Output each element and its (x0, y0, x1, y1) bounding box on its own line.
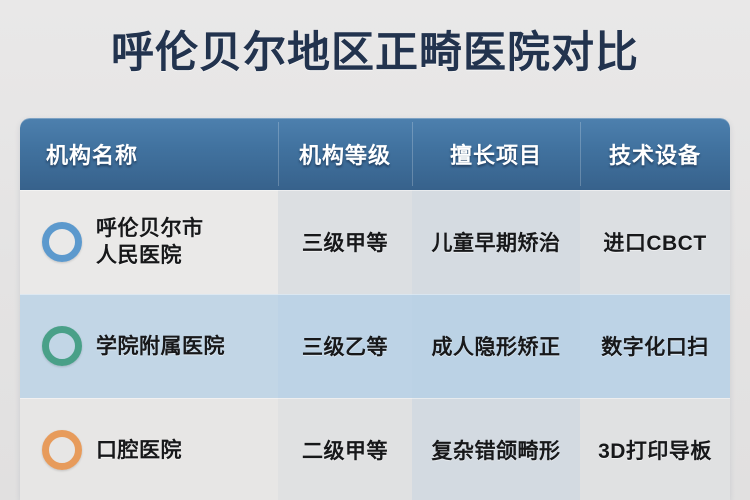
column-header-equipment[interactable]: 技术设备 (580, 118, 730, 190)
cell-specialty: 儿童早期矫治 (412, 190, 580, 294)
cell-organization-name: 口腔医院 (20, 398, 278, 500)
organization-name-line-1: 呼伦贝尔市 (96, 215, 204, 242)
table-row[interactable]: 学院附属医院 三级乙等 成人隐形矫正 数字化口扫 (20, 294, 730, 398)
cell-organization-name: 呼伦贝尔市 人民医院 (20, 190, 278, 294)
table-row[interactable]: 口腔医院 二级甲等 复杂错颌畸形 3D打印导板 (20, 398, 730, 500)
cell-specialty: 复杂错颌畸形 (412, 398, 580, 500)
table-row[interactable]: 呼伦贝尔市 人民医院 三级甲等 儿童早期矫治 进口CBCT (20, 190, 730, 294)
column-header-level[interactable]: 机构等级 (278, 118, 412, 190)
cell-equipment: 数字化口扫 (580, 294, 730, 398)
organization-name-text: 学院附属医院 (96, 333, 225, 360)
cell-equipment: 3D打印导板 (580, 398, 730, 500)
organization-name-line-2: 人民医院 (96, 242, 204, 269)
cell-level: 三级乙等 (278, 294, 412, 398)
ring-icon (42, 222, 82, 262)
column-header-name[interactable]: 机构名称 (20, 118, 278, 190)
organization-name-line-1: 学院附属医院 (96, 333, 225, 360)
organization-name-line-1: 口腔医院 (96, 437, 182, 464)
cell-level: 三级甲等 (278, 190, 412, 294)
cell-specialty: 成人隐形矫正 (412, 294, 580, 398)
table-body: 呼伦贝尔市 人民医院 三级甲等 儿童早期矫治 进口CBCT 学院附属医院 三 (20, 190, 730, 500)
cell-level: 二级甲等 (278, 398, 412, 500)
page-title: 呼伦贝尔地区正畸医院对比 (0, 26, 750, 80)
table-header-row: 机构名称 机构等级 擅长项目 技术设备 (20, 118, 730, 190)
cell-equipment: 进口CBCT (580, 190, 730, 294)
ring-icon (42, 430, 82, 470)
organization-name-text: 呼伦贝尔市 人民医院 (96, 215, 204, 269)
comparison-table: 机构名称 机构等级 擅长项目 技术设备 呼伦贝尔市 人民医院 三级甲等 儿童早期… (20, 118, 730, 500)
organization-name-text: 口腔医院 (96, 437, 182, 464)
cell-organization-name: 学院附属医院 (20, 294, 278, 398)
column-header-specialty[interactable]: 擅长项目 (412, 118, 580, 190)
page-root: 呼伦贝尔地区正畸医院对比 机构名称 机构等级 擅长项目 技术设备 呼伦贝尔市 人… (0, 0, 750, 500)
ring-icon (42, 326, 82, 366)
